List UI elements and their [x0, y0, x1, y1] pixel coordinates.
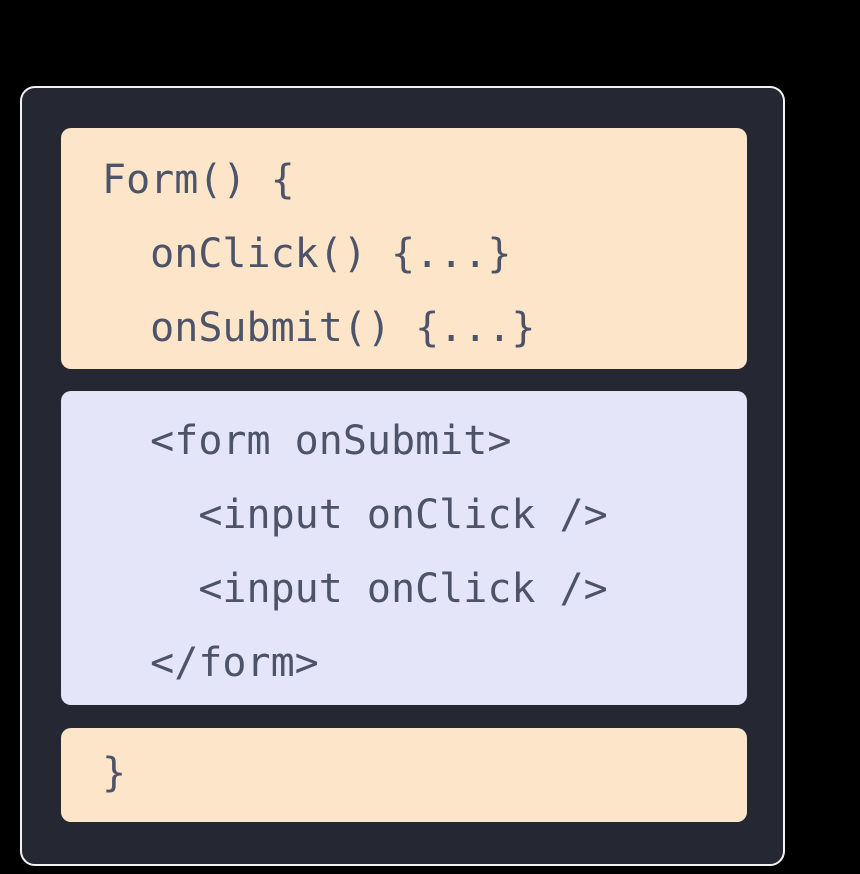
code-segment-markup: <form onSubmit> <input onClick /> <input… — [61, 391, 747, 705]
code-lines-markup: <form onSubmit> <input onClick /> <input… — [102, 404, 747, 700]
code-segment-closing: } — [61, 728, 747, 822]
code-lines-closing: } — [102, 736, 747, 810]
code-line: } — [102, 736, 747, 810]
code-card: Form() { onClick() {...} onSubmit() {...… — [20, 86, 785, 866]
code-line: </form> — [102, 626, 747, 700]
code-lines-signature: Form() { onClick() {...} onSubmit() {...… — [102, 143, 747, 365]
code-line: Form() { — [102, 143, 747, 217]
screenshot-stage: Form() { onClick() {...} onSubmit() {...… — [0, 0, 860, 874]
code-line: <form onSubmit> — [102, 404, 747, 478]
code-line: onClick() {...} — [102, 217, 747, 291]
code-line: <input onClick /> — [102, 478, 747, 552]
code-line: <input onClick /> — [102, 552, 747, 626]
code-line: onSubmit() {...} — [102, 291, 747, 365]
code-segment-signature: Form() { onClick() {...} onSubmit() {...… — [61, 128, 747, 369]
